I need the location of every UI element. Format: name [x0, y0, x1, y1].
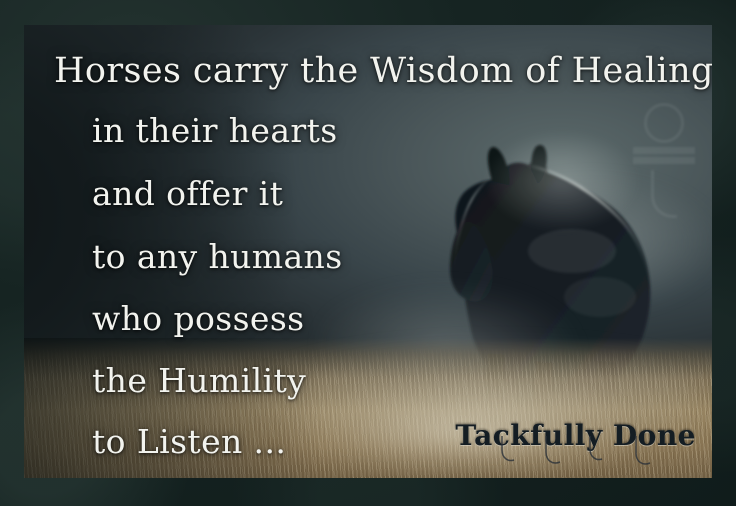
photograph: Horses carry the Wisdom of Healing in th… [24, 25, 712, 478]
quote-text-block: Horses carry the Wisdom of Healing in th… [54, 43, 712, 472]
quote-line: who possess [92, 288, 712, 350]
quote-line: to any humans [92, 225, 712, 288]
quote-line: and offer it [92, 163, 712, 225]
signature-watermark: Tackfully Done [455, 419, 696, 452]
quote-line: the Humility [92, 350, 712, 412]
quote-poster: Horses carry the Wisdom of Healing in th… [0, 0, 736, 506]
quote-line: Horses carry the Wisdom of Healing [54, 43, 712, 99]
quote-line: in their hearts [92, 99, 712, 163]
